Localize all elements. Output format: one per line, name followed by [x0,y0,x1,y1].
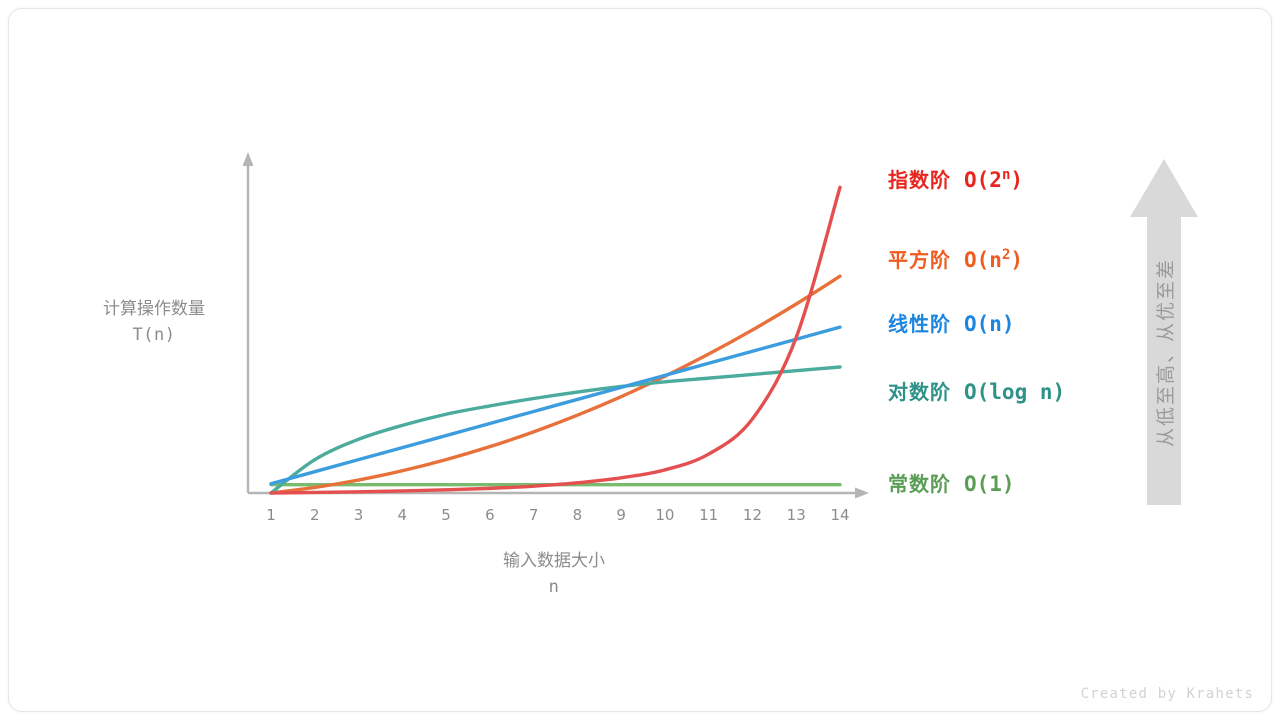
x-tick-label: 10 [650,506,680,524]
legend-item-name: 常数阶 [888,474,951,496]
x-tick-label: 12 [737,506,767,524]
x-tick-label: 6 [475,506,505,524]
x-tick-label: 8 [562,506,592,524]
arrow-shape [1130,159,1198,505]
credit-text: Created by Krahets [1081,686,1254,702]
x-tick-label: 14 [825,506,855,524]
legend-item-notation: O(1) [964,472,1015,496]
y-axis-title-line2: T(n) [42,322,266,348]
legend-item: 指数阶O(2n) [888,164,1023,193]
y-axis-title: 计算操作数量 T(n) [42,296,266,349]
legend-item-name: 对数阶 [888,382,951,404]
series-line [271,187,840,493]
y-axis-arrowhead [243,152,254,166]
x-tick-label: 2 [300,506,330,524]
x-axis-title-line1: 输入数据大小 [444,548,664,574]
x-tick-label: 4 [387,506,417,524]
legend-item-name: 平方阶 [888,250,951,272]
legend-item: 线性阶O(n) [888,308,1015,337]
legend-notation-exponent: n [1002,167,1010,183]
legend-item-notation: O(2n) [964,168,1023,192]
x-axis-title: 输入数据大小 n [444,548,664,601]
legend-item: 对数阶O(log n) [888,376,1065,405]
legend-notation-exponent: 2 [1002,247,1010,263]
x-tick-label: 1 [256,506,286,524]
x-axis-arrowhead [855,488,869,499]
ranking-arrow-icon [1128,155,1200,505]
x-tick-label: 9 [606,506,636,524]
legend-item-notation: O(log n) [964,380,1065,404]
legend-item-notation: O(n2) [964,248,1023,272]
y-axis-title-line1: 计算操作数量 [42,296,266,322]
series-curves [271,187,840,493]
x-tick-label: 11 [694,506,724,524]
series-line [271,327,840,484]
x-axis-title-line2: n [444,574,664,600]
x-tick-label: 5 [431,506,461,524]
series-line [271,367,840,493]
x-tick-label: 13 [781,506,811,524]
legend-item-name: 线性阶 [888,314,951,336]
legend-item: 常数阶O(1) [888,468,1015,497]
x-tick-label: 3 [344,506,374,524]
legend-item: 平方阶O(n2) [888,244,1023,273]
legend-item-notation: O(n) [964,312,1015,336]
chart-stage: 1234567891011121314 计算操作数量 T(n) 输入数据大小 n… [0,0,1280,720]
x-tick-label: 7 [519,506,549,524]
chart-plot-area [0,0,1280,720]
legend-item-name: 指数阶 [888,170,951,192]
